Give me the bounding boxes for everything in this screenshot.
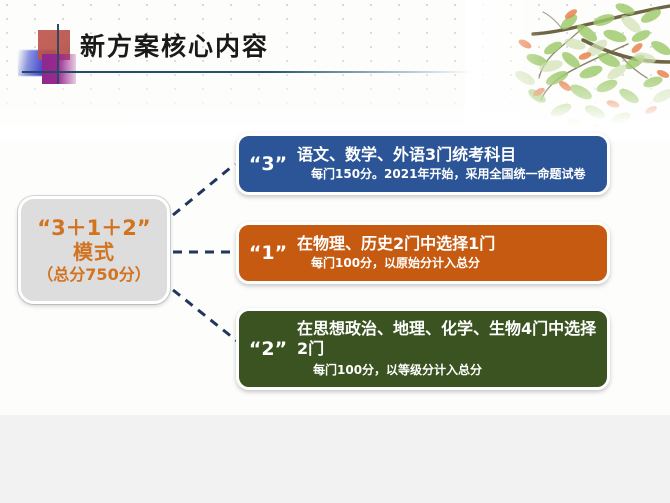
item-badge-1: “1” bbox=[239, 242, 297, 264]
leafy-branch-icon bbox=[465, 0, 670, 135]
item-box-1[interactable]: “1” 在物理、历史2门中选择1门 每门100分，以原始分计入总分 bbox=[236, 222, 610, 284]
square-purple-icon bbox=[42, 54, 76, 84]
item-sub-text-2: 每门100分，以等级分计入总分 bbox=[297, 363, 601, 379]
item-text-group-1: 在物理、历史2门中选择1门 每门100分，以原始分计入总分 bbox=[297, 234, 607, 272]
mode-line-2: 模式 bbox=[73, 241, 115, 264]
connector-to-green bbox=[173, 290, 237, 341]
slide-canvas: 新方案核心内容 “3＋1＋2” 模式 （总分750分） “3” 语文、数学、外语… bbox=[0, 0, 670, 503]
bottom-band bbox=[0, 415, 670, 503]
mode-summary-box: “3＋1＋2” 模式 （总分750分） bbox=[18, 196, 170, 304]
vertical-rule-icon bbox=[57, 24, 59, 84]
item-box-2[interactable]: “2” 在思想政治、地理、化学、生物4门中选择2门 每门100分，以等级分计入总… bbox=[236, 308, 610, 390]
item-badge-3: “3” bbox=[239, 153, 297, 175]
page-title: 新方案核心内容 bbox=[80, 27, 269, 63]
title-underline bbox=[22, 71, 472, 73]
item-main-text-2: 在思想政治、地理、化学、生物4门中选择2门 bbox=[297, 319, 601, 358]
item-text-group-3: 语文、数学、外语3门统考科目 每门150分。2021年开始，采用全国统一命题试卷 bbox=[297, 145, 607, 183]
item-badge-2: “2” bbox=[239, 338, 297, 360]
item-sub-text-3: 每门150分。2021年开始，采用全国统一命题试卷 bbox=[297, 167, 601, 183]
connector-to-blue bbox=[173, 164, 235, 215]
item-main-text-1: 在物理、历史2门中选择1门 bbox=[297, 234, 601, 254]
item-box-3[interactable]: “3” 语文、数学、外语3门统考科目 每门150分。2021年开始，采用全国统一… bbox=[236, 133, 610, 195]
item-sub-text-1: 每门100分，以原始分计入总分 bbox=[297, 256, 601, 272]
mode-line-1: “3＋1＋2” bbox=[37, 216, 150, 240]
item-text-group-2: 在思想政治、地理、化学、生物4门中选择2门 每门100分，以等级分计入总分 bbox=[297, 319, 607, 379]
mode-line-3: （总分750分） bbox=[37, 265, 150, 284]
item-main-text-3: 语文、数学、外语3门统考科目 bbox=[297, 145, 601, 165]
